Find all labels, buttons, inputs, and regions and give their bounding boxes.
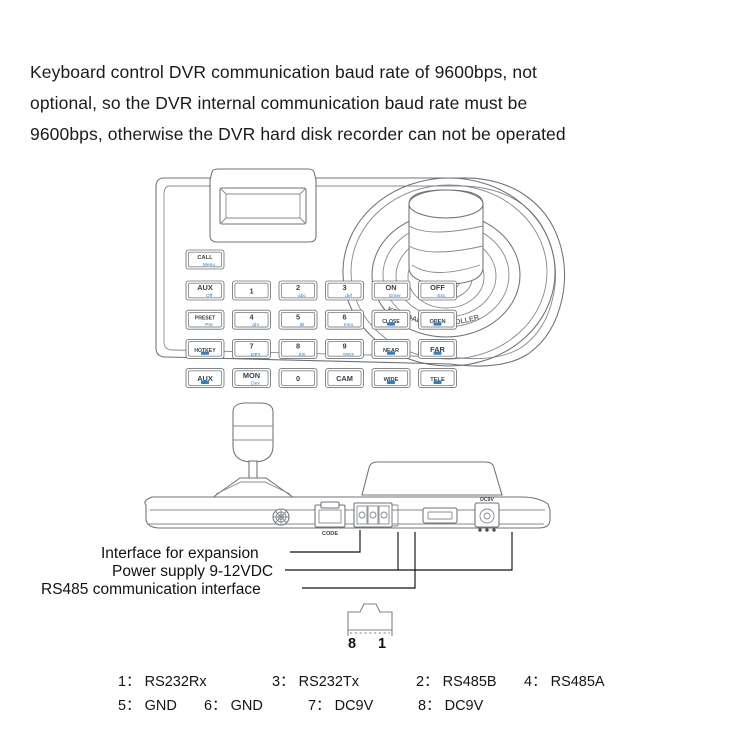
pin-legend-cell: 6： GND [204, 694, 263, 715]
key-main-label: 1 [249, 287, 253, 296]
key-indicator-icon [387, 352, 395, 355]
key-main-label: 3 [342, 283, 346, 292]
key-mon-dev[interactable]: MONDev [233, 369, 271, 388]
pin-legend-cell: 7： DC9V [308, 694, 373, 715]
key-main-label: OFF [430, 283, 445, 292]
key-sub-label: def [345, 293, 352, 299]
key-4-ghi[interactable]: 4ghi [233, 310, 271, 329]
key-aux-off[interactable]: AUXOff [186, 281, 224, 300]
pin-legend-cell: 5： GND [118, 694, 177, 715]
key-main-label: 9 [342, 342, 346, 351]
heading-line-1: Keyboard control DVR communication baud … [30, 57, 730, 88]
pin-legend-cell: 3： RS232Tx [272, 670, 359, 691]
key-8-tuv[interactable]: 8tuv [279, 339, 317, 358]
key-sub-label: tuv [299, 351, 306, 357]
key-main-label: MON [243, 371, 260, 380]
key-sub-label: ghi [252, 322, 259, 328]
lcd-display [210, 169, 316, 242]
heading-line-2: optional, so the DVR internal communicat… [30, 88, 730, 119]
pin-legend-cell: 1： RS232Rx [118, 670, 207, 691]
page-title: Keyboard control DVR communication baud … [30, 57, 730, 150]
key-hotkey[interactable]: HOTKEY [186, 339, 224, 358]
key-main-label: 7 [249, 342, 253, 351]
key-aux[interactable]: AUX [186, 369, 224, 388]
key-main-label: CAM [336, 374, 353, 383]
key-preset-pre[interactable]: PRESETPre [186, 310, 224, 329]
key-sub-label: Menu [203, 262, 216, 268]
key-main-label: 6 [342, 312, 346, 321]
key-1[interactable]: 1 [233, 281, 271, 300]
key-indicator-icon [434, 352, 442, 355]
dc-port-label: DC9V [480, 497, 494, 503]
key-sub-label: Enter [389, 293, 401, 299]
pin-label-8: 8 [348, 636, 356, 652]
pin-legend-cell: 8： DC9V [418, 694, 483, 715]
key-main-label: AUX [197, 283, 213, 292]
pin-legend: 1： RS232Rx 3： RS232Tx 2： RS485B 4： RS485… [118, 670, 638, 718]
key-sub-label: mno [344, 323, 354, 328]
key-sub-label: Esc [437, 293, 446, 299]
key-indicator-icon [434, 381, 442, 384]
callout-expansion: Interface for expansion [101, 545, 259, 563]
key-7-pqrs[interactable]: 7pqrs [233, 339, 271, 358]
key-sub-label: abc [298, 293, 306, 299]
key-sub-label: jkl [299, 322, 305, 328]
key-2-abc[interactable]: 2abc [279, 281, 317, 300]
key-indicator-icon [201, 381, 209, 384]
key-6-mno[interactable]: 6mno [326, 310, 364, 329]
key-sub-label: wxyz [343, 352, 354, 357]
key-main-label: 8 [296, 342, 300, 351]
key-tele[interactable]: TELE [419, 369, 457, 388]
key-off-esc[interactable]: OFFEsc [419, 281, 457, 300]
rear-hump [362, 462, 502, 495]
key-0[interactable]: 0 [279, 369, 317, 388]
key-far[interactable]: FAR [419, 339, 457, 358]
diagram-page: Keyboard control DVR communication baud … [0, 0, 750, 750]
key-main-label: 2 [296, 283, 300, 292]
pin-legend-cell: 2： RS485B [416, 670, 497, 691]
heading-line-3: 9600bps, otherwise the DVR hard disk rec… [30, 119, 730, 150]
key-main-label: CALL [197, 255, 213, 261]
pin-legend-row-1: 1： RS232Rx 3： RS232Tx 2： RS485B 4： RS485… [118, 670, 638, 694]
key-5-jkl[interactable]: 5jkl [279, 310, 317, 329]
key-indicator-icon [201, 352, 209, 355]
callout-rs485: RS485 communication interface [41, 581, 261, 599]
key-indicator-icon [387, 322, 395, 325]
side-joystick [212, 403, 294, 498]
callout-power: Power supply 9-12VDC [112, 563, 273, 581]
pin-legend-row-2: 5： GND 6： GND 7： DC9V 8： DC9V [118, 694, 638, 718]
key-sub-label: Dev [251, 381, 260, 387]
key-main-label: PRESET [195, 315, 216, 321]
pin-label-1: 1 [378, 636, 386, 652]
key-9-wxyz[interactable]: 9wxyz [326, 339, 364, 358]
key-indicator-icon [387, 381, 395, 384]
key-indicator-icon [434, 322, 442, 325]
key-main-label: 5 [296, 312, 300, 321]
pin-legend-cell: 4： RS485A [524, 670, 605, 691]
key-main-label: ON [385, 283, 396, 292]
key-cam[interactable]: CAM [326, 369, 364, 388]
key-wide[interactable]: WIDE [372, 369, 410, 388]
key-main-label: 0 [296, 374, 300, 383]
controller-top-view: KEYBOARD CONTROLLER CALLMenuAUXOff12abc3… [150, 168, 570, 378]
leader-expansion [290, 530, 360, 552]
joystick-knob [409, 190, 483, 284]
key-near[interactable]: NEAR [372, 339, 410, 358]
key-on-enter[interactable]: ONEnter [372, 281, 410, 300]
key-sub-label: Off [206, 293, 213, 299]
key-3-def[interactable]: 3def [326, 281, 364, 300]
key-sub-label: Pre [205, 322, 213, 328]
key-close[interactable]: CLOSE [372, 310, 410, 329]
key-open[interactable]: OPEN [419, 310, 457, 329]
key-call-menu[interactable]: CALLMenu [186, 250, 224, 269]
key-sub-label: pqrs [251, 351, 261, 357]
